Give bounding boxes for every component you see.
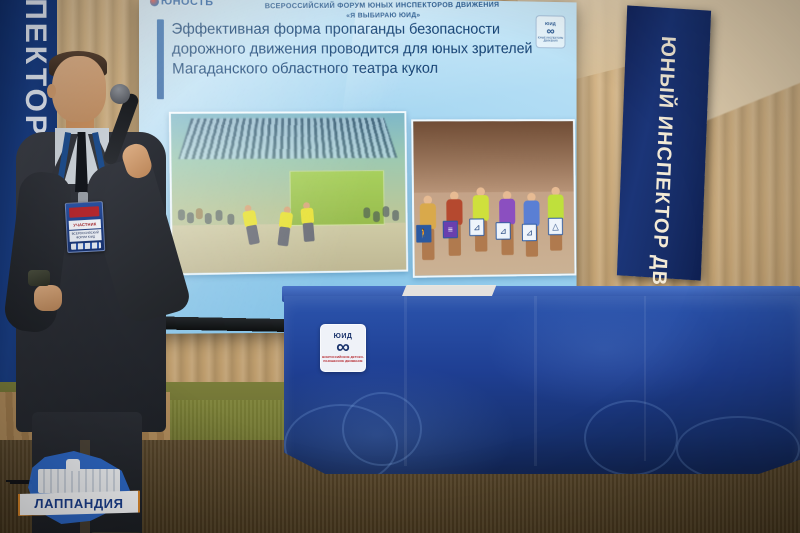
slide-header-line1: ВСЕРОССИЙСКИЙ ФОРУМ ЮНЫХ ИНСПЕКТОРОВ ДВИ…	[265, 0, 500, 10]
yunost-glyph-icon	[150, 0, 159, 6]
pedestrian-sign-icon: 🚶	[416, 225, 431, 243]
slide-photo-left	[169, 111, 408, 275]
watermark-text: ЛАППАНДИЯ	[34, 496, 123, 511]
table-cloth: ЮИД ∞ ВСЕРОССИЙСКОЕ ДЕТСКО-ЮНОШЕСКОЕ ДВИ…	[284, 296, 800, 474]
warning-sign-icon: △	[548, 218, 563, 236]
infinity-icon: ∞	[336, 341, 350, 355]
photo-scene: ИНСПЕКТОР ДВИЖЕНИЯ ЮНОСТЬ ВСЕРОССИЙСКИЙ …	[0, 0, 800, 533]
crosswalk-sign-icon: ⊿	[469, 218, 484, 236]
table-logo-subtitle: ВСЕРОССИЙСКОЕ ДЕТСКО-ЮНОШЕСКОЕ ДВИЖЕНИЕ	[321, 356, 365, 363]
presenter-clicker	[28, 270, 50, 286]
badge-sponsor-strip	[71, 242, 101, 250]
presenter-table: ЮИД ∞ ВСЕРОССИЙСКОЕ ДЕТСКО-ЮНОШЕСКОЕ ДВИ…	[282, 286, 800, 482]
badge-header-bar	[69, 206, 99, 218]
badge-event: ВСЕРОССИЙСКИЙ ФОРУМ ЮИД	[69, 229, 102, 242]
yunost-logo-text: ЮНОСТЬ	[161, 0, 214, 8]
banner-right: ЮНЫЙ ИНСПЕКТОР ДВИЖЕНИЯ	[617, 5, 711, 280]
watermark-building-icon	[38, 469, 120, 493]
photo-left-performer	[300, 208, 315, 242]
ear	[47, 84, 56, 98]
paper-sheet	[402, 285, 497, 297]
hand-left	[34, 285, 62, 311]
crosswalk-sign-icon: ⊿	[496, 222, 511, 240]
participant-badge: УЧАСТНИК ВСЕРОССИЙСКИЙ ФОРУМ ЮИД	[65, 201, 106, 253]
banner-right-text: ЮНЫЙ ИНСПЕКТОР ДВИЖЕНИЯ	[617, 5, 711, 280]
head	[52, 56, 106, 122]
yunost-logo: ЮНОСТЬ	[150, 0, 214, 8]
crosswalk-sign-icon: ⊿	[522, 224, 537, 242]
slide-title: Эффективная форма пропаганды безопасност…	[171, 20, 556, 79]
road-sign-icon: ≡	[443, 221, 458, 239]
lapplandia-watermark: ЛАППАНДИЯ	[18, 447, 138, 531]
projection-screen: ЮНОСТЬ ВСЕРОССИЙСКИЙ ФОРУМ ЮНЫХ ИНСПЕКТО…	[139, 0, 577, 334]
slide-photo-right: 🚶 ≡ ⊿ ⊿ ⊿ △	[411, 119, 576, 278]
photo-right-hall	[413, 121, 574, 192]
table-uid-logo: ЮИД ∞ ВСЕРОССИЙСКОЕ ДЕТСКО-ЮНОШЕСКОЕ ДВИ…	[320, 324, 366, 372]
photo-left-ceiling	[179, 118, 398, 159]
badge-role: УЧАСТНИК	[69, 219, 101, 230]
